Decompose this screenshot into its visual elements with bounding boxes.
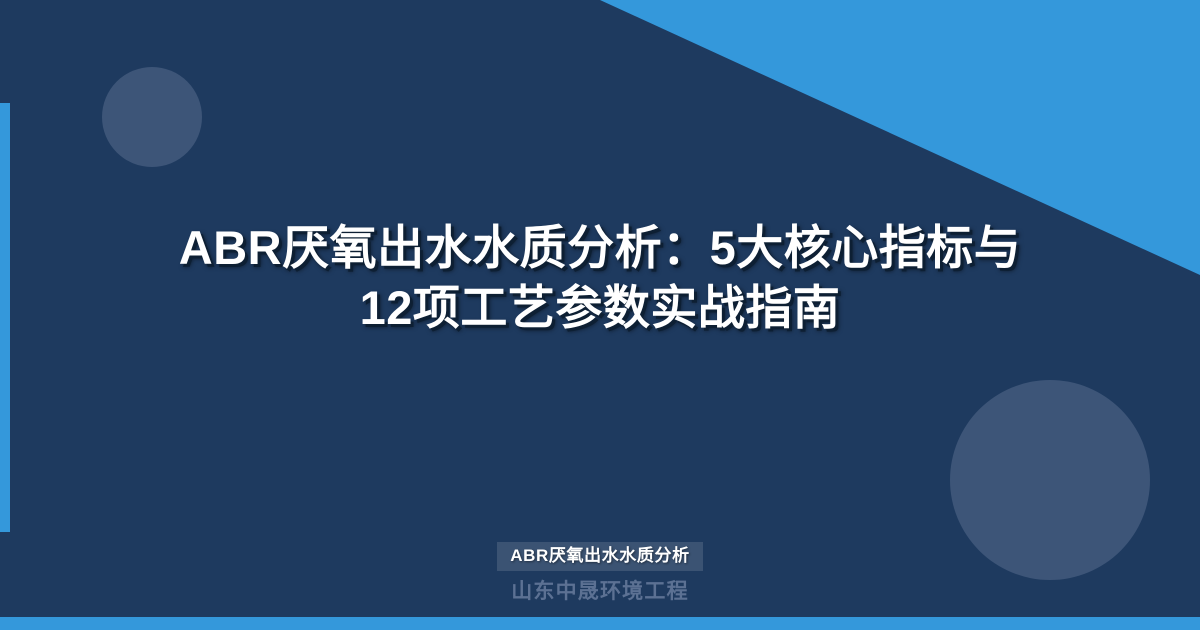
footer-block: ABR厌氧出水水质分析 山东中晟环境工程 (0, 542, 1200, 604)
brand-name: 山东中晟环境工程 (0, 579, 1200, 604)
title-line-2: 12项工艺参数实战指南 (60, 278, 1140, 338)
content-layer: ABR厌氧出水水质分析：5大核心指标与 12项工艺参数实战指南 ABR厌氧出水水… (0, 0, 1200, 630)
page-title: ABR厌氧出水水质分析：5大核心指标与 12项工艺参数实战指南 (0, 218, 1200, 338)
topic-badge: ABR厌氧出水水质分析 (497, 542, 702, 571)
banner-canvas: ABR厌氧出水水质分析：5大核心指标与 12项工艺参数实战指南 ABR厌氧出水水… (0, 0, 1200, 630)
title-line-1: ABR厌氧出水水质分析：5大核心指标与 (60, 218, 1140, 278)
